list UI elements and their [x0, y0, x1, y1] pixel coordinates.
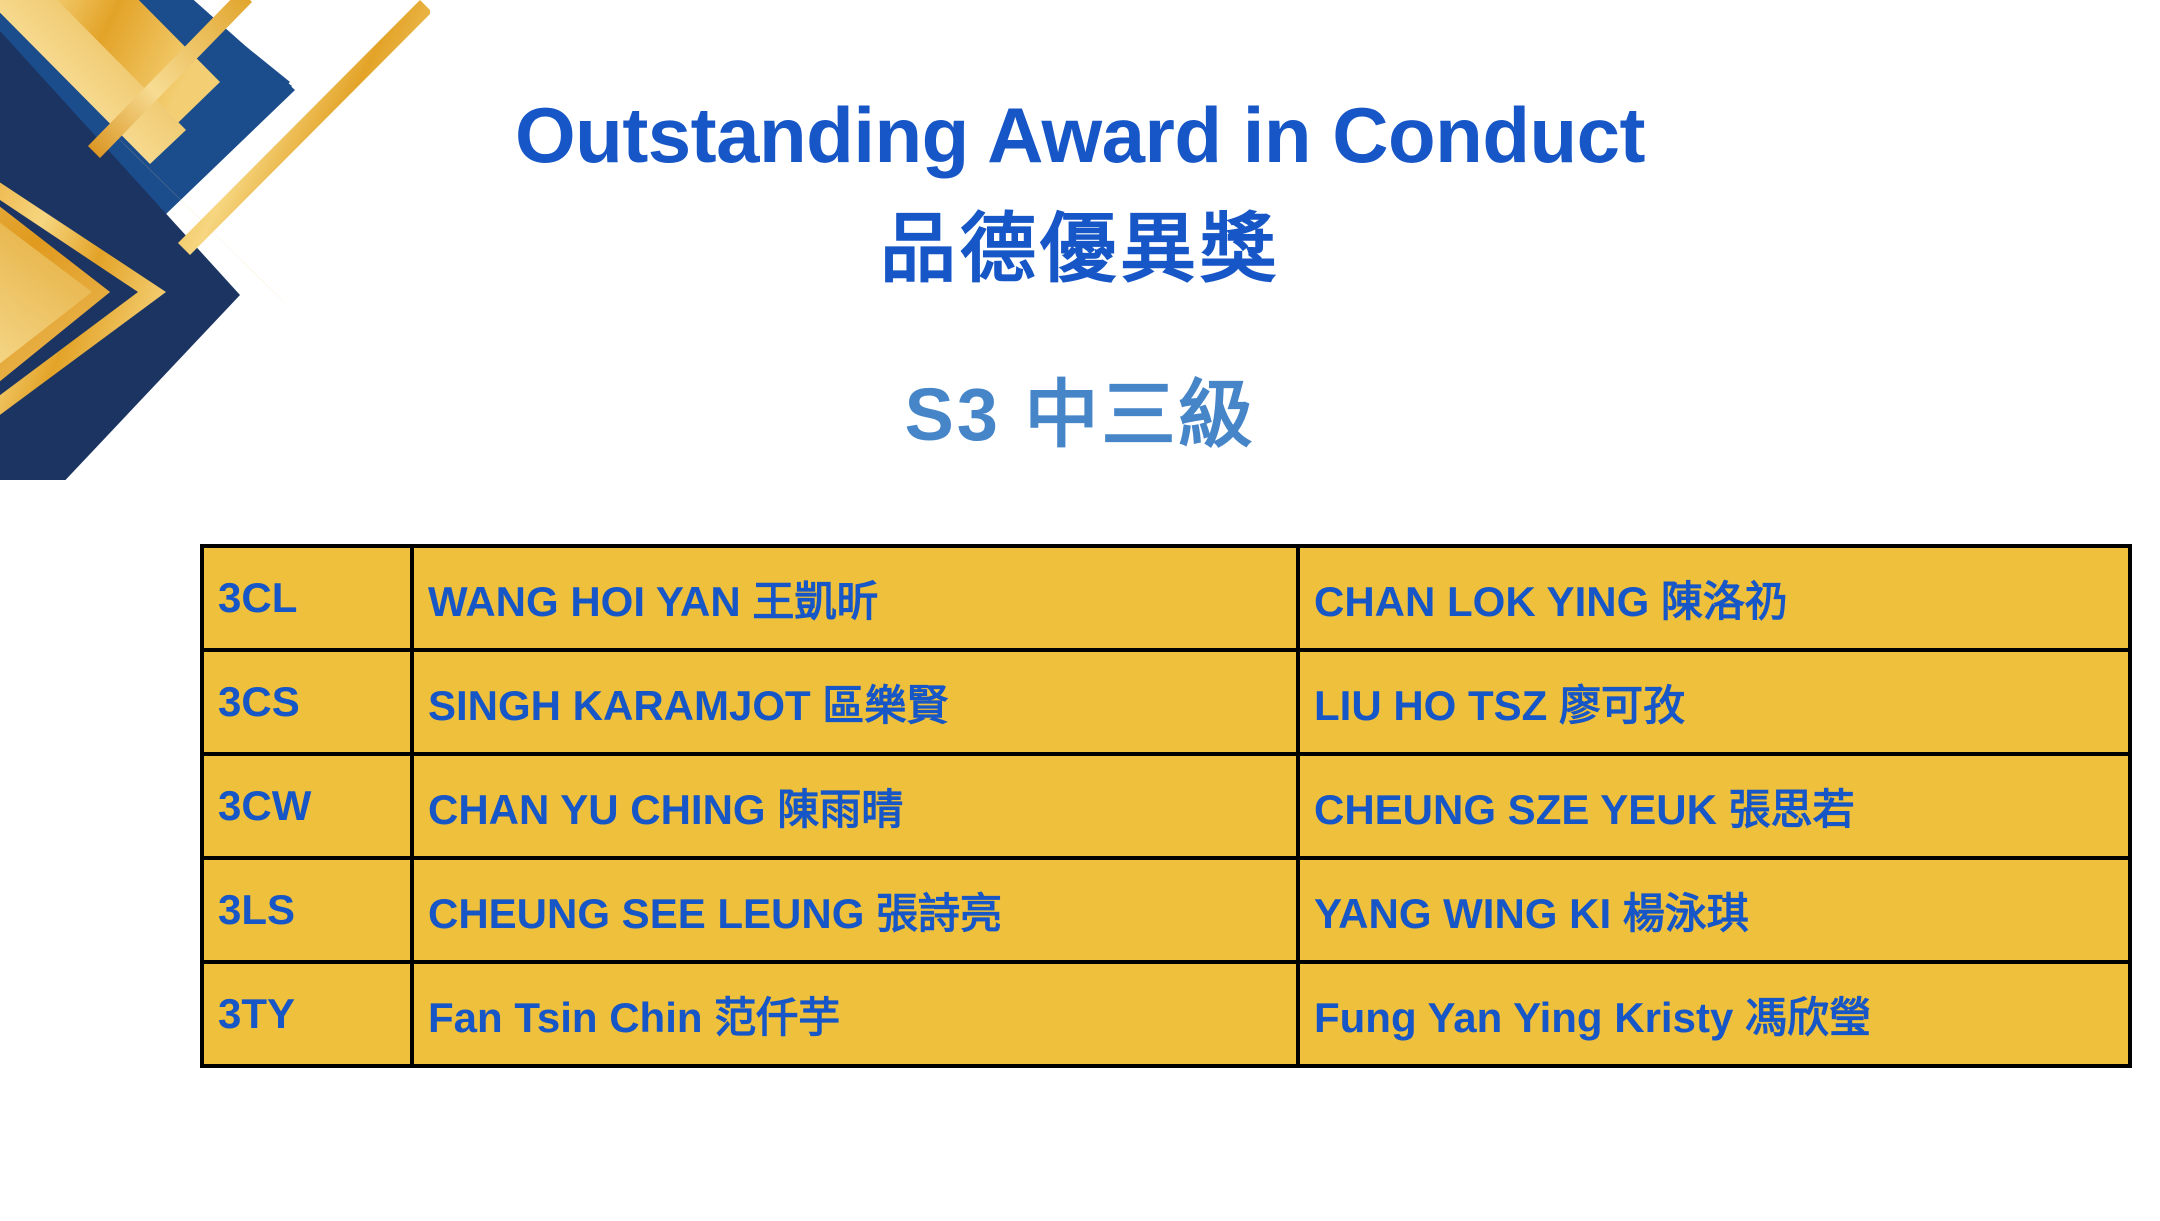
table-row: 3LSCHEUNG SEE LEUNG 張詩亮YANG WING KI 楊泳琪	[202, 858, 2130, 962]
cell-awardee-name: WANG HOI YAN 王凱昕	[412, 546, 1298, 650]
cell-awardee-name: SINGH KARAMJOT 區樂賢	[412, 650, 1298, 754]
cell-class-code: 3TY	[202, 962, 412, 1066]
table-row: 3CWCHAN YU CHING 陳雨晴CHEUNG SZE YEUK 張思若	[202, 754, 2130, 858]
table-row: 3CSSINGH KARAMJOT 區樂賢LIU HO TSZ 廖可孜	[202, 650, 2130, 754]
cell-awardee-name: CHEUNG SZE YEUK 張思若	[1298, 754, 2130, 858]
cell-awardee-name: Fan Tsin Chin 范仟芋	[412, 962, 1298, 1066]
cell-awardee-name: YANG WING KI 楊泳琪	[1298, 858, 2130, 962]
cell-awardee-name: CHAN LOK YING 陳洛礽	[1298, 546, 2130, 650]
table-row: 3CLWANG HOI YAN 王凱昕CHAN LOK YING 陳洛礽	[202, 546, 2130, 650]
cell-class-code: 3CW	[202, 754, 412, 858]
cell-awardee-name: CHAN YU CHING 陳雨晴	[412, 754, 1298, 858]
table-row: 3TYFan Tsin Chin 范仟芋Fung Yan Ying Kristy…	[202, 962, 2130, 1066]
cell-awardee-name: CHEUNG SEE LEUNG 張詩亮	[412, 858, 1298, 962]
cell-class-code: 3CS	[202, 650, 412, 754]
awards-table: 3CLWANG HOI YAN 王凱昕CHAN LOK YING 陳洛礽3CSS…	[200, 544, 2132, 1068]
cell-class-code: 3LS	[202, 858, 412, 962]
page-title: Outstanding Award in Conduct	[0, 96, 2160, 174]
cell-class-code: 3CL	[202, 546, 412, 650]
cell-awardee-name: LIU HO TSZ 廖可孜	[1298, 650, 2130, 754]
grade-level-subtitle: S3 中三級	[0, 378, 2160, 452]
page-title-chinese: 品德優異獎	[0, 212, 2160, 288]
awards-table-container: 3CLWANG HOI YAN 王凱昕CHAN LOK YING 陳洛礽3CSS…	[200, 544, 2032, 1068]
cell-awardee-name: Fung Yan Ying Kristy 馮欣瑩	[1298, 962, 2130, 1066]
